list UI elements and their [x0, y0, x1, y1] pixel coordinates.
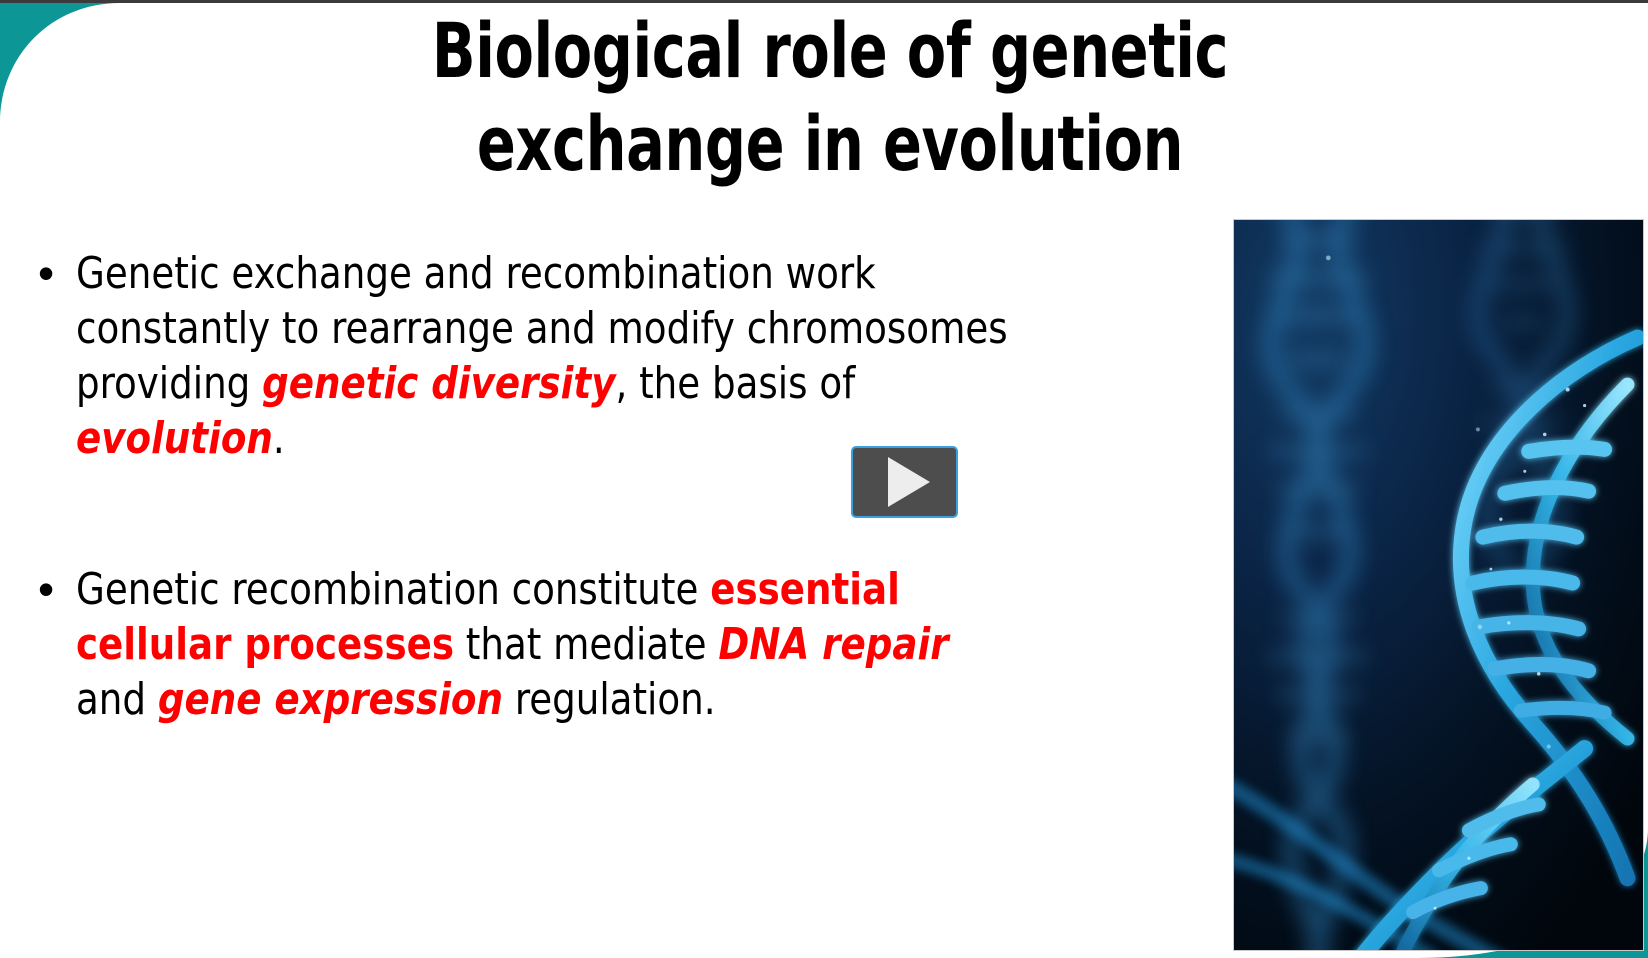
- bullet-2-segment-0: Genetic recombination constitute: [76, 564, 710, 615]
- video-play-button[interactable]: [851, 446, 958, 518]
- bullet-marker: •: [24, 246, 76, 301]
- bullet-2-segment-5-gene-expression: gene expression: [158, 674, 503, 725]
- dna-helix-illustration: [1234, 220, 1643, 950]
- bullet-text-2: Genetic recombination constitute essenti…: [76, 562, 1014, 727]
- bullet-2-segment-6: regulation.: [503, 674, 716, 725]
- bullet-marker: •: [24, 562, 76, 617]
- bullet-1-segment-3-evolution: evolution: [76, 413, 273, 464]
- slide-title: Biological role of genetic exchange in e…: [234, 5, 1427, 190]
- dna-helix-image: [1233, 219, 1644, 951]
- bullet-2-segment-2: that mediate: [454, 619, 718, 670]
- bullet-1-segment-1-genetic-diversity: genetic diversity: [262, 358, 615, 409]
- bullet-1-segment-4: .: [273, 413, 285, 464]
- teal-corner-wedge-top-left: [0, 3, 120, 123]
- bullet-text-1: Genetic exchange and recombination work …: [76, 246, 1014, 466]
- bullet-item-1: • Genetic exchange and recombination wor…: [24, 246, 1074, 466]
- play-triangle-icon: [888, 457, 930, 507]
- bullet-1-segment-2: , the basis of: [615, 358, 867, 409]
- presentation-slide: Biological role of genetic exchange in e…: [0, 0, 1648, 958]
- bullet-2-segment-3-dna-repair: DNA repair: [718, 619, 948, 670]
- bullet-item-2: • Genetic recombination constitute essen…: [24, 562, 1074, 727]
